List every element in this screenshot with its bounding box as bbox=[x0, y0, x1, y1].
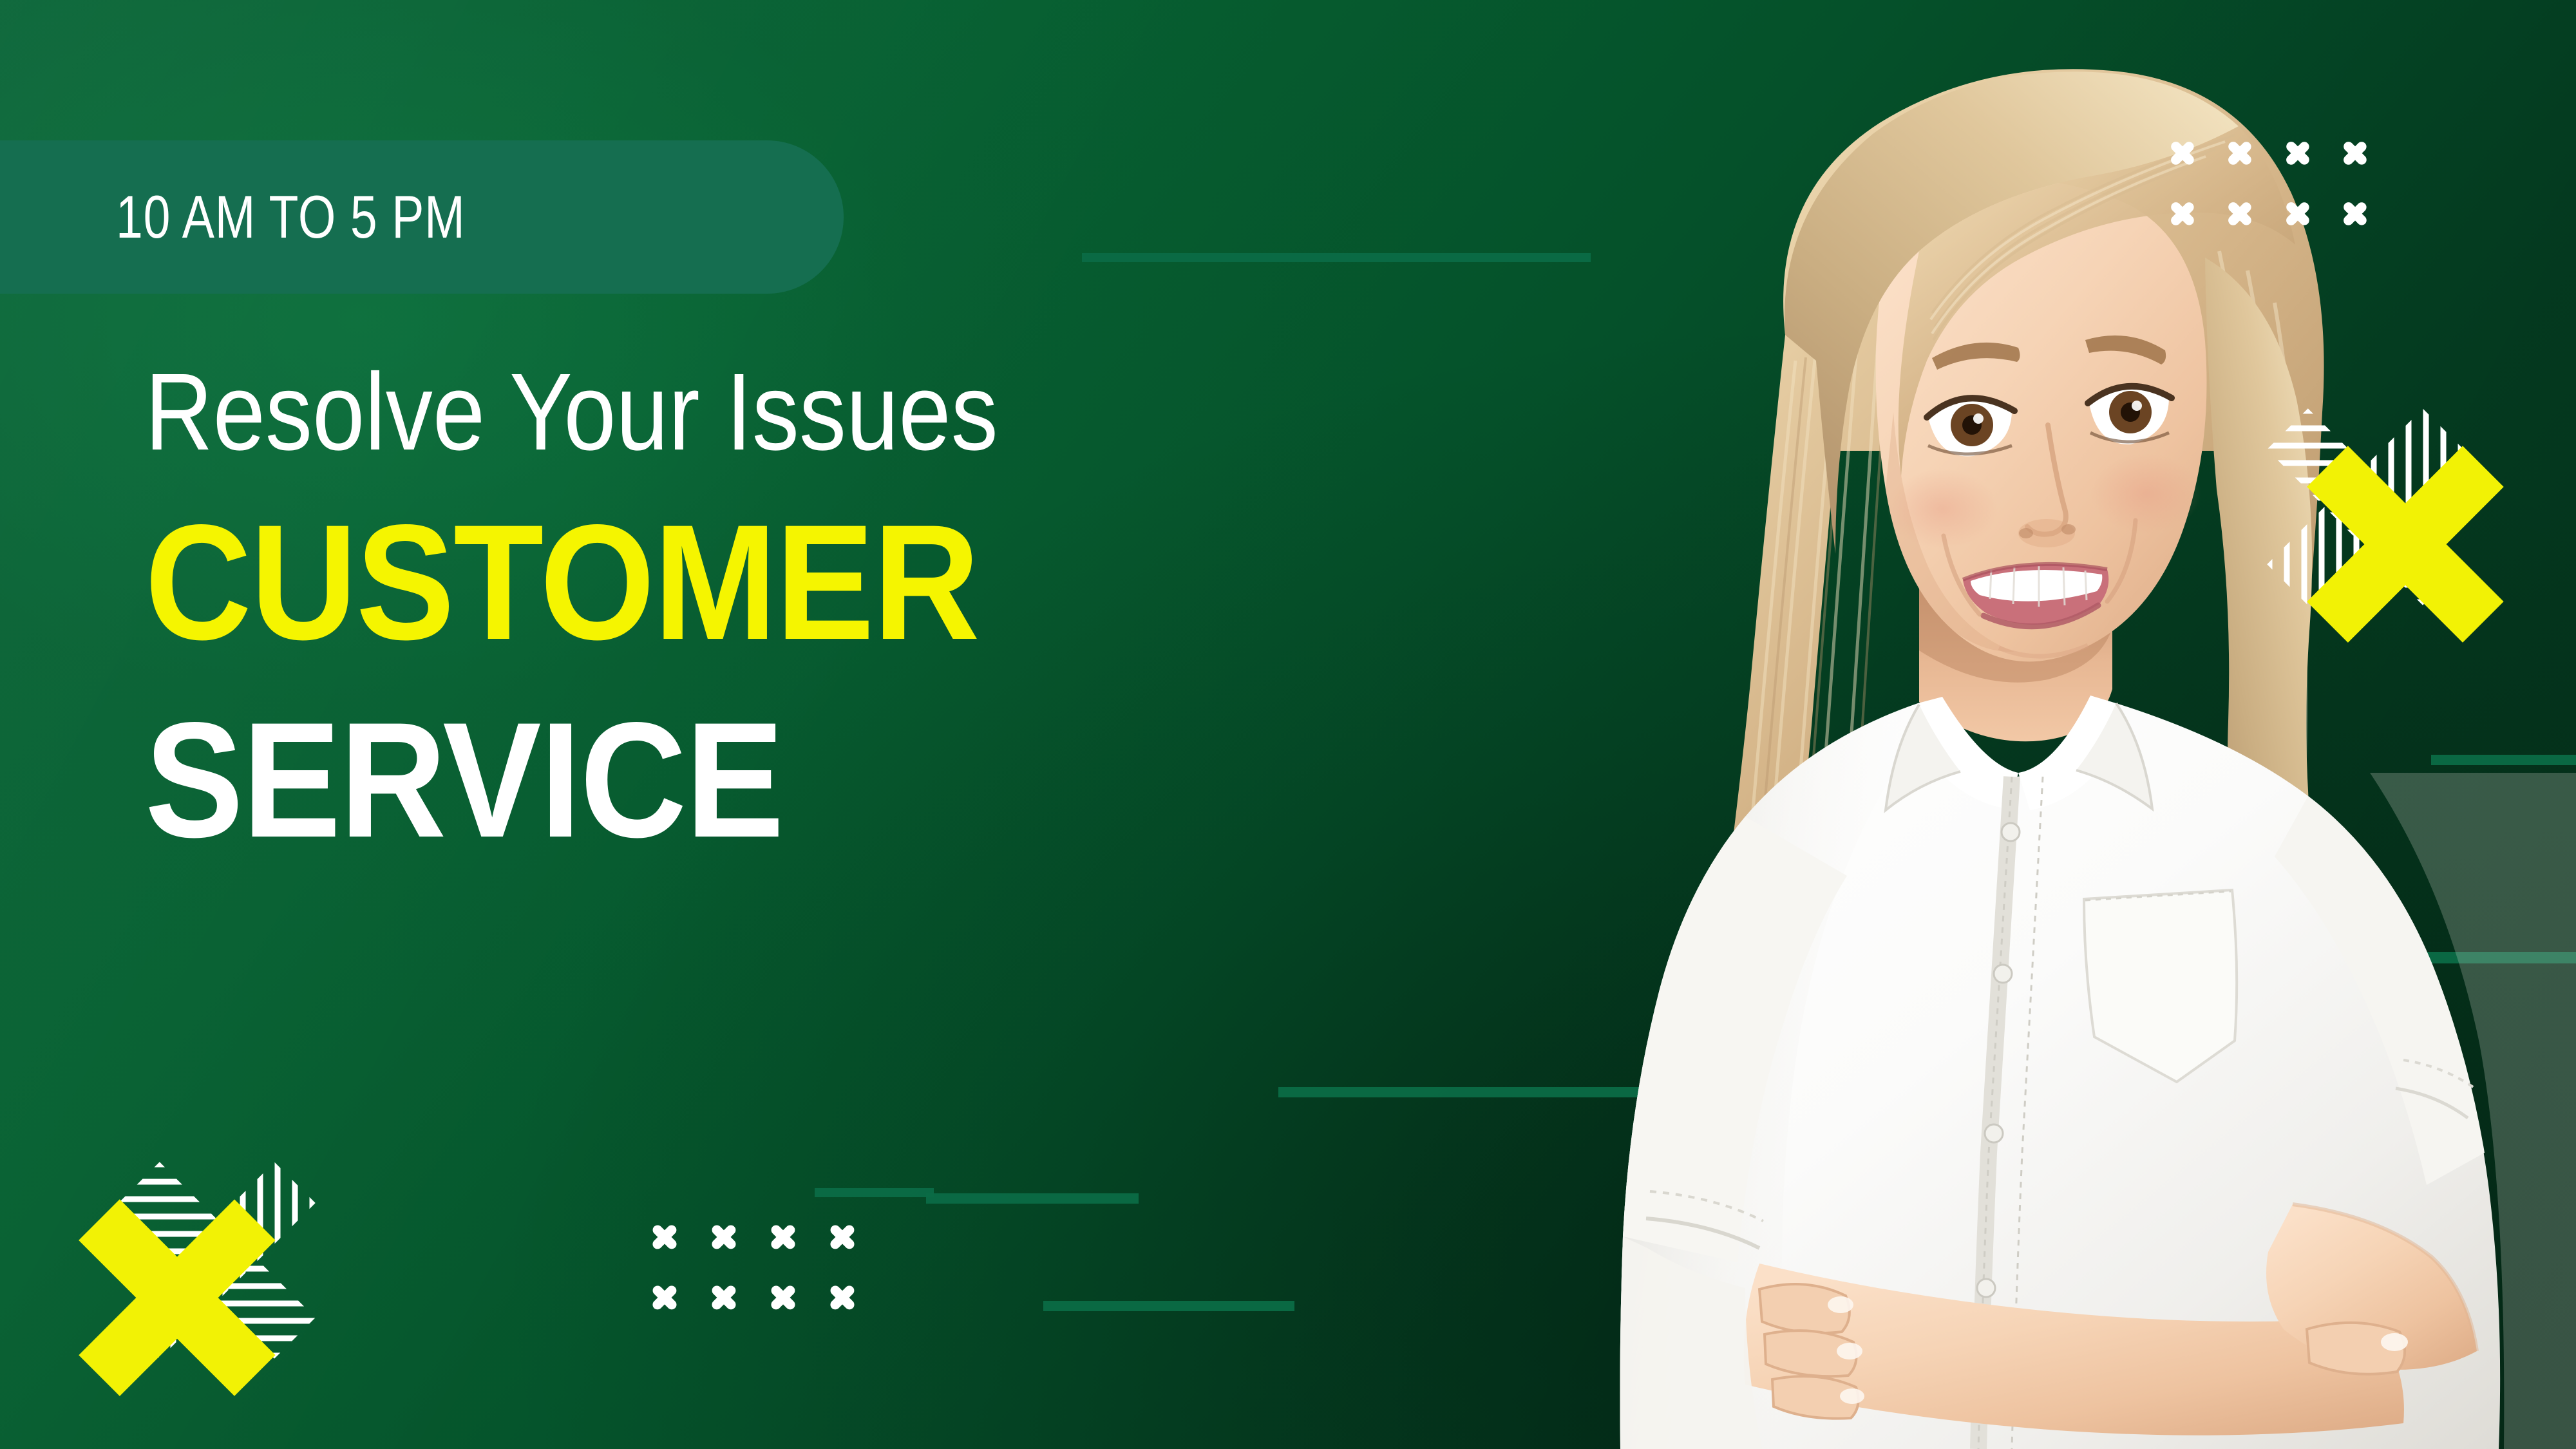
yellow-cross-right bbox=[2312, 451, 2499, 638]
x-mark-icon bbox=[2278, 193, 2318, 235]
x-mark-icon bbox=[2163, 132, 2202, 175]
headline-eyebrow: Resolve Your Issues bbox=[145, 357, 1280, 467]
headline-title-line-1: CUSTOMER bbox=[145, 500, 1333, 665]
banner-content: 10 AM TO 5 PM Resolve Your Issues CUSTOM… bbox=[0, 0, 1481, 1449]
x-mark-icon bbox=[2221, 132, 2260, 175]
x-mark-icon bbox=[2278, 132, 2318, 175]
headline-block: Resolve Your Issues CUSTOMER SERVICE bbox=[145, 357, 1465, 862]
customer-service-banner: 10 AM TO 5 PM Resolve Your Issues CUSTOM… bbox=[0, 0, 2576, 1449]
headline-title-line-2: SERVICE bbox=[145, 698, 1333, 862]
solid-cross-icon bbox=[2312, 451, 2499, 638]
decorative-line bbox=[2344, 952, 2576, 963]
x-mark-icon bbox=[2221, 193, 2260, 235]
x-mark-grid-top-right bbox=[2163, 132, 2375, 235]
x-mark-icon bbox=[2336, 132, 2376, 175]
decorative-line bbox=[2431, 755, 2576, 765]
hours-badge-label: 10 AM TO 5 PM bbox=[116, 187, 466, 247]
x-mark-icon bbox=[2163, 193, 2202, 235]
x-mark-icon bbox=[2336, 193, 2376, 235]
hours-badge: 10 AM TO 5 PM bbox=[0, 140, 844, 294]
